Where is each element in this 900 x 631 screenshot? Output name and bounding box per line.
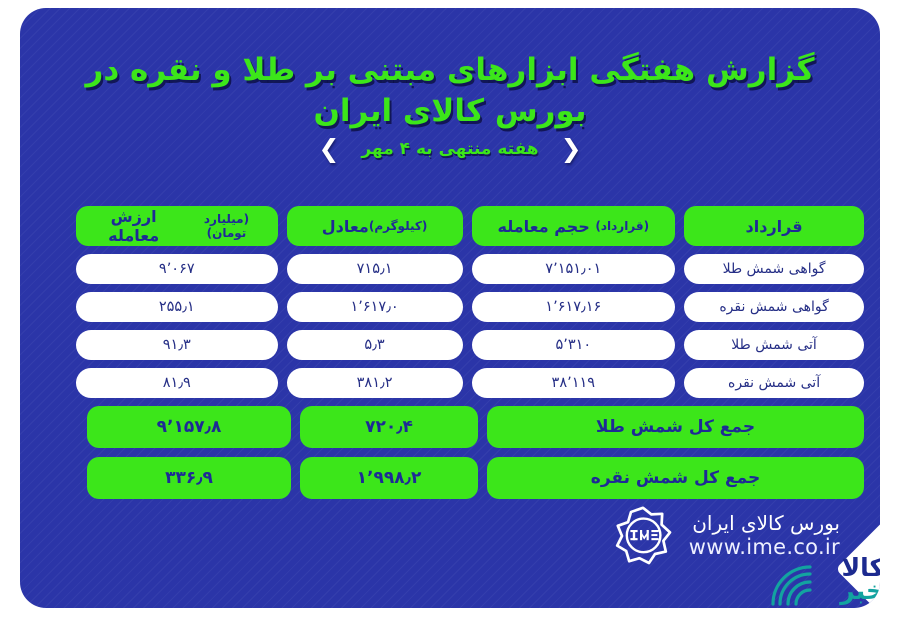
watermark-line-1: کالا: [840, 556, 880, 579]
cell-contract: گواهی شمش طلا: [684, 254, 864, 284]
summary-value: ۹٬۱۵۷٫۸: [87, 406, 291, 448]
chevron-left-icon: ❯: [318, 136, 339, 161]
table-row: گواهی شمش نقره ۱٬۶۱۷٫۱۶ ۱٬۶۱۷٫۰ ۲۵۵٫۱: [76, 292, 864, 322]
cell-contract: آتی شمش طلا: [684, 330, 864, 360]
summary-equivalent: ۱٬۹۹۸٫۲: [300, 457, 478, 499]
cell-value: ۹۱٫۳: [76, 330, 278, 360]
table-row: گواهی شمش طلا ۷٬۱۵۱٫۰۱ ۷۱۵٫۱ ۹٬۰۶۷: [76, 254, 864, 284]
summary-label: جمع کل شمش طلا: [487, 406, 864, 448]
cell-equivalent: ۷۱۵٫۱: [287, 254, 463, 284]
column-header-volume: (قرارداد) حجم معامله: [472, 206, 676, 246]
subtitle-period: هفته منتهی به ۴ مهر: [361, 139, 538, 159]
summary-row-silver: جمع کل شمش نقره ۱٬۹۹۸٫۲ ۳۳۶٫۹: [76, 457, 864, 499]
table-row: آتی شمش طلا ۵٬۳۱۰ ۵٫۳ ۹۱٫۳: [76, 330, 864, 360]
summary-label: جمع کل شمش نقره: [487, 457, 864, 499]
cell-volume: ۵٬۳۱۰: [472, 330, 676, 360]
column-header-value-label: ارزش معامله: [84, 207, 183, 245]
summary-row-gold: جمع کل شمش طلا ۷۲۰٫۴ ۹٬۱۵۷٫۸: [76, 406, 864, 448]
cell-equivalent: ۵٫۳: [287, 330, 463, 360]
cell-contract: گواهی شمش نقره: [684, 292, 864, 322]
cell-volume: ۷٬۱۵۱٫۰۱: [472, 254, 676, 284]
ime-logo-icon: [613, 506, 673, 566]
chevron-right-icon: ❮: [561, 136, 582, 161]
cell-equivalent: ۱٬۶۱۷٫۰: [287, 292, 463, 322]
column-header-value: (میلیارد تومان)ارزش معامله: [76, 206, 278, 246]
column-header-volume-label: حجم معامله: [498, 217, 590, 236]
watermark-line-2: خبر: [840, 579, 880, 602]
report-card: گزارش هفتگی ابزارهای مبتنی بر طلا و نقره…: [20, 8, 880, 608]
table-row: آتی شمش نقره ۳۸٬۱۱۹ ۳۸۱٫۲ ۸۱٫۹: [76, 368, 864, 398]
table-header-row: قرارداد (قرارداد) حجم معامله (کیلوگرم)مع…: [76, 206, 864, 246]
cell-value: ۲۵۵٫۱: [76, 292, 278, 322]
cell-equivalent: ۳۸۱٫۲: [287, 368, 463, 398]
watermark-text: کالا خبر: [840, 556, 880, 602]
column-header-contract: قرارداد: [684, 206, 864, 246]
corner-notch: [836, 520, 880, 608]
column-header-volume-unit: (قرارداد): [595, 219, 649, 233]
cell-value: ۹٬۰۶۷: [76, 254, 278, 284]
brand-text-block: بورس کالای ایران www.ime.co.ir: [689, 512, 840, 559]
report-table: قرارداد (قرارداد) حجم معامله (کیلوگرم)مع…: [76, 206, 864, 508]
summary-value: ۳۳۶٫۹: [87, 457, 291, 499]
cell-value: ۸۱٫۹: [76, 368, 278, 398]
subtitle-block: ❮ هفته منتهی به ۴ مهر ❯: [20, 136, 880, 161]
brand-name: بورس کالای ایران: [689, 512, 840, 535]
column-header-equivalent-unit: (کیلوگرم): [369, 219, 428, 233]
column-header-equivalent: (کیلوگرم)معادل: [287, 206, 463, 246]
column-header-equivalent-label: معادل: [322, 217, 369, 236]
cell-volume: ۱٬۶۱۷٫۱۶: [472, 292, 676, 322]
brand-website: www.ime.co.ir: [689, 535, 840, 559]
footer-branding: بورس کالای ایران www.ime.co.ir: [613, 506, 840, 566]
page-title: گزارش هفتگی ابزارهای مبتنی بر طلا و نقره…: [46, 50, 854, 132]
cell-contract: آتی شمش نقره: [684, 368, 864, 398]
summary-equivalent: ۷۲۰٫۴: [300, 406, 478, 448]
infographic-page: گزارش هفتگی ابزارهای مبتنی بر طلا و نقره…: [0, 0, 900, 631]
title-block: گزارش هفتگی ابزارهای مبتنی بر طلا و نقره…: [20, 50, 880, 132]
column-header-value-unit: (میلیارد تومان): [183, 212, 269, 240]
cell-volume: ۳۸٬۱۱۹: [472, 368, 676, 398]
